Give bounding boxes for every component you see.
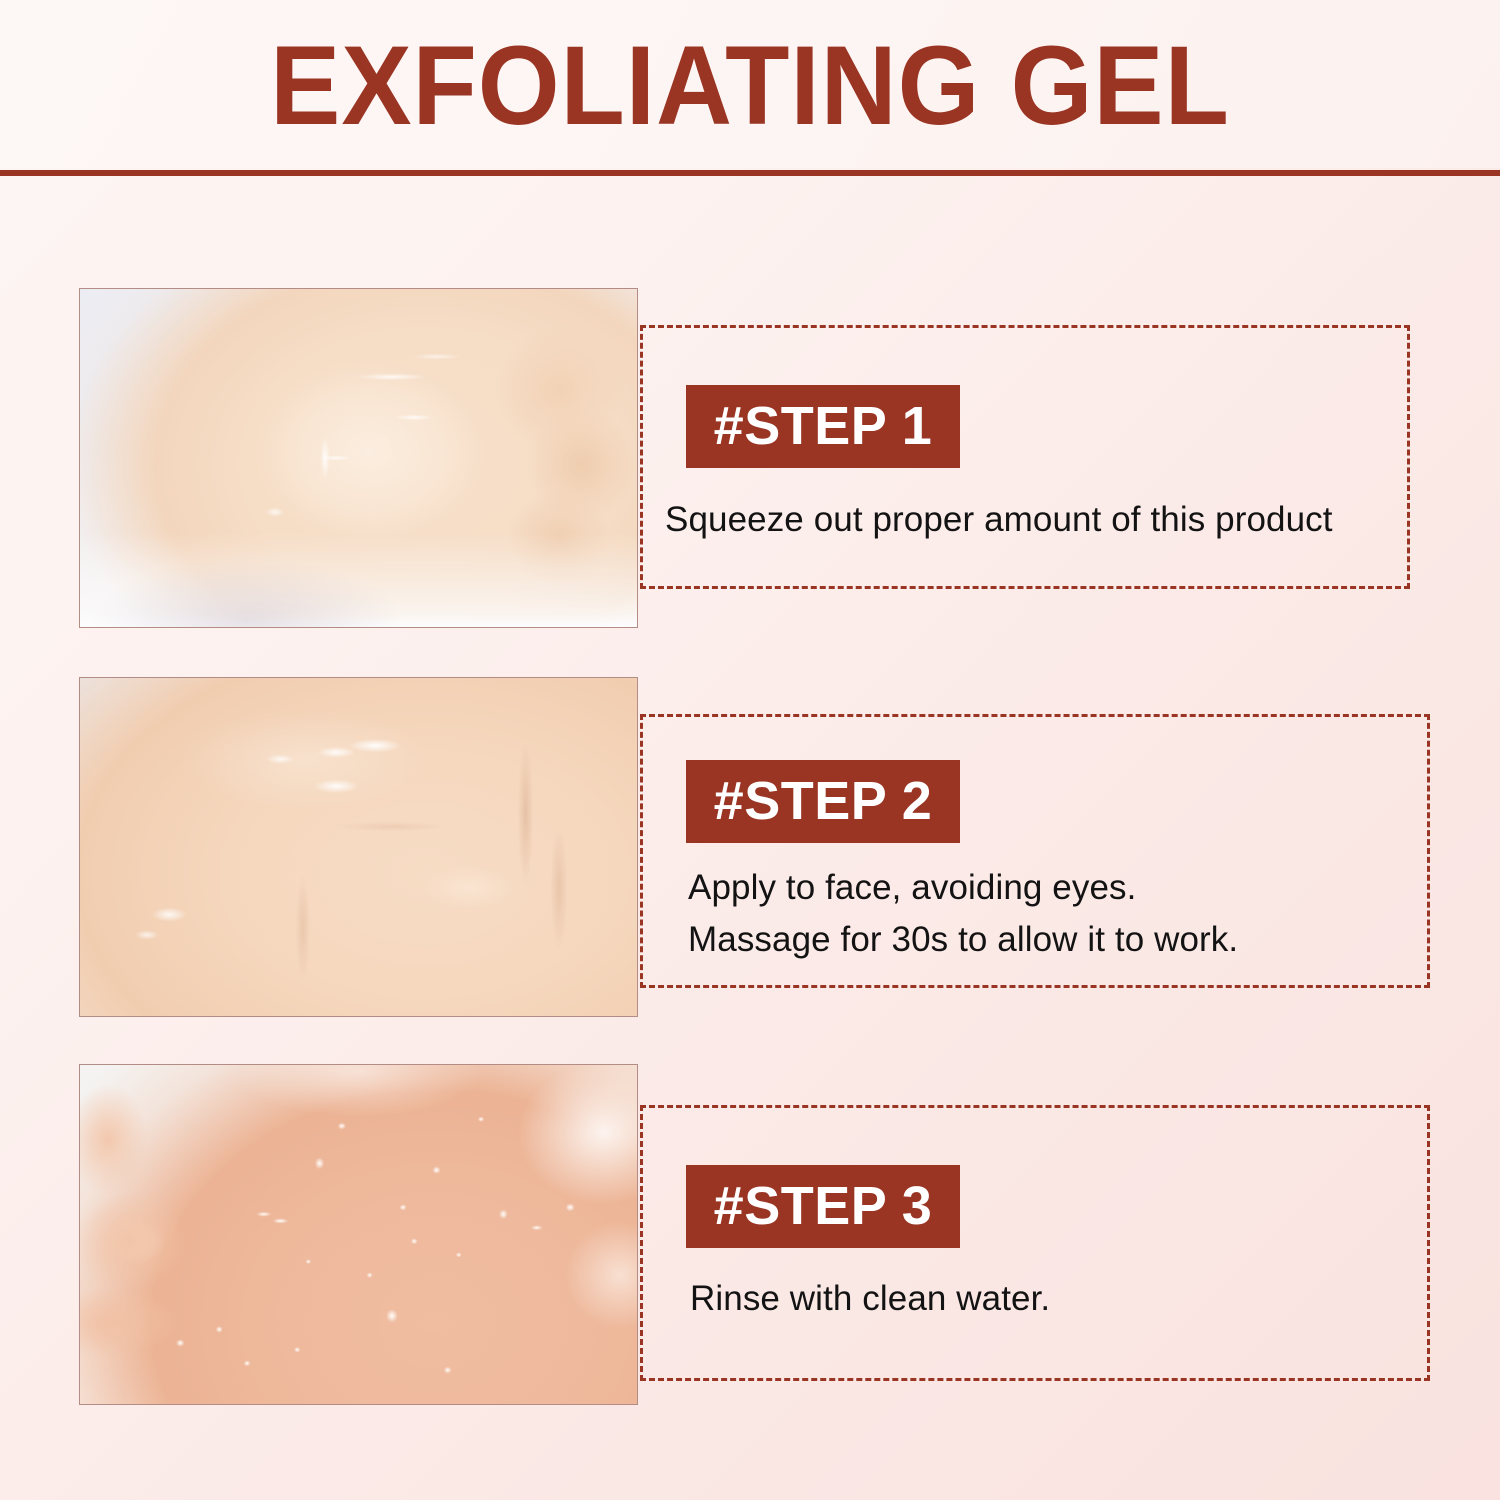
step-3-badge: #STEP 3 [686, 1165, 960, 1248]
step-1-badge: #STEP 1 [686, 385, 960, 468]
page-title: EXFOLIATING GEL [45, 26, 1455, 146]
step-3-description-line-1: Rinse with clean water. [690, 1273, 1050, 1325]
photo-shadow [80, 289, 637, 627]
step-1-description-line-1: Squeeze out proper amount of this produc… [665, 494, 1333, 546]
step-2-description-line-1: Apply to face, avoiding eyes. [688, 862, 1238, 914]
step-2-photo [79, 677, 638, 1017]
step-1-photo [79, 288, 638, 628]
gel-sheen-highlights [80, 678, 637, 1016]
step-2-description: Apply to face, avoiding eyes. Massage fo… [688, 862, 1238, 966]
exfoliating-gel-infographic: EXFOLIATING GEL #STEP 1 Squeeze out prop… [0, 0, 1500, 1500]
step-1-description: Squeeze out proper amount of this produc… [665, 494, 1333, 546]
step-3-photo [79, 1064, 638, 1405]
header-divider [0, 170, 1500, 176]
step-3-description: Rinse with clean water. [690, 1273, 1050, 1325]
photo-highlights [80, 1065, 637, 1404]
step-2-description-line-2: Massage for 30s to allow it to work. [688, 914, 1238, 966]
step-2-badge: #STEP 2 [686, 760, 960, 843]
header-band: EXFOLIATING GEL [0, 0, 1500, 168]
